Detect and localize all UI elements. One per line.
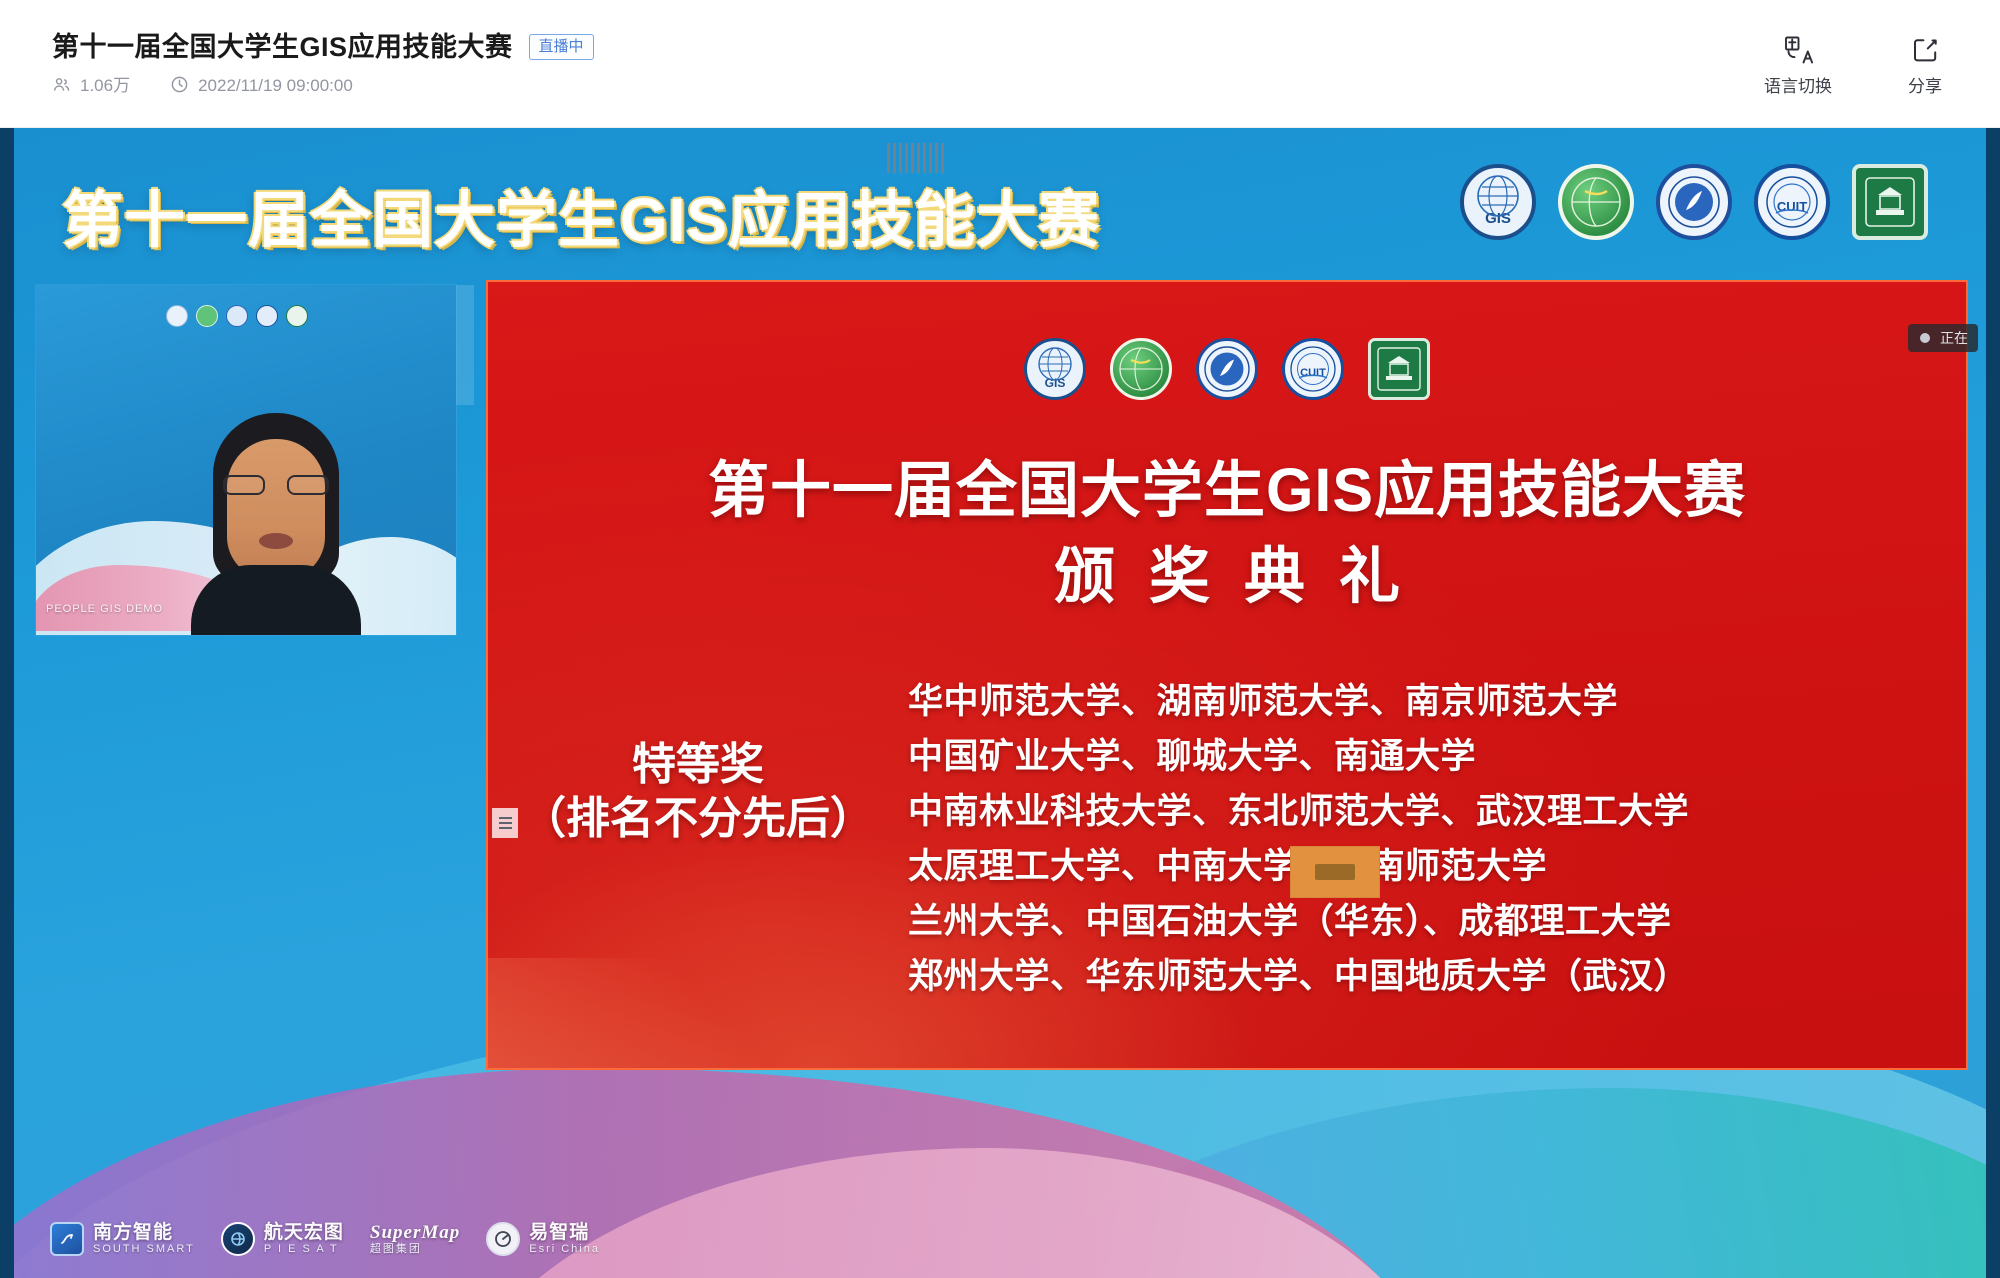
list-item: 中国矿业大学、聊城大学、南通大学 xyxy=(908,729,1942,784)
gis-association-emblem: GIS xyxy=(1024,338,1086,400)
university-blue-emblem xyxy=(1196,338,1258,400)
glasses-icon xyxy=(223,475,329,495)
viewers-icon xyxy=(52,75,71,94)
sponsor-name-cn: 航天宏图 xyxy=(264,1223,344,1242)
share-button[interactable]: 分享 xyxy=(1908,33,1942,95)
recording-indicator[interactable]: 正在 xyxy=(1908,324,1978,352)
stream-header: 第十一届全国大学生GIS应用技能大赛 直播中 1.06万 xyxy=(0,0,2000,128)
green-globe-emblem xyxy=(1558,164,1634,240)
viewer-count: 1.06万 xyxy=(52,75,130,94)
esrichina-logo-icon xyxy=(486,1222,520,1256)
award-winner-list: 华中师范大学、湖南师范大学、南京师范大学 中国矿业大学、聊城大学、南通大学 中南… xyxy=(908,674,1968,1004)
webcam-globe-icon xyxy=(196,305,218,327)
presenter-name-placeholder xyxy=(1315,864,1355,880)
speaker-shoulders xyxy=(191,565,361,635)
njnu-green-emblem xyxy=(1368,338,1430,400)
award-block: 特等奖 （排名不分先后） 华中师范大学、湖南师范大学、南京师范大学 中国矿业大学… xyxy=(488,674,1968,1004)
stage-emblem-row: GIS xyxy=(1460,164,1928,240)
webcam-cuit-icon xyxy=(256,305,278,327)
slide-emblem-row: GIS xyxy=(1024,338,1430,400)
stream-time-text: 2022/11/19 09:00:00 xyxy=(198,77,353,94)
viewer-count-text: 1.06万 xyxy=(80,77,130,94)
award-category-note: （排名不分先后） xyxy=(488,791,908,846)
share-label: 分享 xyxy=(1908,78,1942,95)
secondary-pane-edge xyxy=(456,285,474,405)
sponsor-piesat: 航天宏图 P I E S A T xyxy=(221,1222,344,1256)
record-dot-icon xyxy=(1918,331,1932,345)
sponsor-name-en: SuperMap xyxy=(370,1223,460,1242)
list-item: 兰州大学、中国石油大学（华东）、成都理工大学 xyxy=(908,894,1942,949)
list-item: 郑州大学、华东师范大学、中国地质大学（武汉） xyxy=(908,949,1942,1004)
video-player-stage[interactable]: 第十一届全国大学生GIS应用技能大赛 GIS xyxy=(0,128,2000,1278)
green-globe-emblem xyxy=(1110,338,1172,400)
language-switch-label: 语言切换 xyxy=(1764,78,1832,95)
sponsor-strip: 南方智能 SOUTH SMART 航天宏图 P I E S A T SuperM… xyxy=(50,1222,600,1256)
recording-indicator-label: 正在 xyxy=(1940,331,1968,345)
university-blue-emblem xyxy=(1656,164,1732,240)
webcam-univ-icon xyxy=(226,305,248,327)
video-frame: 第十一届全国大学生GIS应用技能大赛 GIS xyxy=(14,128,1986,1278)
webcam-gis-icon xyxy=(166,305,188,327)
stream-time: 2022/11/19 09:00:00 xyxy=(170,75,353,94)
header-left: 第十一届全国大学生GIS应用技能大赛 直播中 1.06万 xyxy=(52,34,594,94)
south-smart-logo-icon xyxy=(50,1222,84,1256)
sponsor-esrichina: 易智瑞 Esri China xyxy=(486,1222,600,1256)
award-category-main: 特等奖 xyxy=(488,740,908,791)
piesat-logo-icon xyxy=(221,1222,255,1256)
status-badge: 直播中 xyxy=(529,34,594,60)
list-item: 华中师范大学、湖南师范大学、南京师范大学 xyxy=(908,674,1942,729)
webcam-corner-label: PEOPLE GIS DEMO xyxy=(46,603,163,615)
webcam-njnu-icon xyxy=(286,305,308,327)
page-title: 第十一届全国大学生GIS应用技能大赛 xyxy=(52,34,513,61)
sponsor-name-cn: 易智瑞 xyxy=(529,1223,600,1242)
language-switch-button[interactable]: 语言切换 xyxy=(1764,33,1832,95)
shared-slide[interactable]: GIS xyxy=(486,280,1968,1070)
stream-meta: 1.06万 2022/11/19 09:00:00 xyxy=(52,75,594,94)
slide-title: 第十一届全国大学生GIS应用技能大赛 xyxy=(488,440,1966,529)
list-item: 中南林业科技大学、东北师范大学、武汉理工大学 xyxy=(908,784,1942,839)
sponsor-supermap: SuperMap 超图集团 xyxy=(370,1223,460,1255)
sponsor-name-cn: 超图集团 xyxy=(370,1244,460,1255)
list-item: 太原理工大学、中南大学、华南师范大学 xyxy=(908,839,1942,894)
cuit-emblem: CUIT xyxy=(1754,164,1830,240)
presenter-name-chip xyxy=(1290,846,1380,898)
cuit-emblem: CUIT xyxy=(1282,338,1344,400)
sponsor-name-en: Esri China xyxy=(529,1244,600,1255)
sponsor-name-cn: 南方智能 xyxy=(93,1223,195,1242)
slide-thumbnail-toggle[interactable] xyxy=(492,808,518,838)
sponsor-name-en: P I E S A T xyxy=(264,1244,344,1255)
stage-banner-title: 第十一届全国大学生GIS应用技能大赛 xyxy=(62,170,1100,259)
sponsor-name-en: SOUTH SMART xyxy=(93,1244,195,1255)
share-icon xyxy=(1910,33,1940,67)
gis-association-emblem: GIS xyxy=(1460,164,1536,240)
award-category-label: 特等奖 （排名不分先后） xyxy=(488,674,908,846)
speaker-face xyxy=(227,439,325,579)
speaker-webcam[interactable]: PEOPLE GIS DEMO xyxy=(36,285,456,635)
webcam-logo-row xyxy=(166,305,308,327)
translate-icon xyxy=(1782,33,1814,67)
clock-icon xyxy=(170,75,189,94)
speaker-mouth xyxy=(259,533,293,549)
speaker-avatar xyxy=(191,385,361,635)
header-actions: 语言切换 分享 xyxy=(1764,33,1964,95)
title-row: 第十一届全国大学生GIS应用技能大赛 直播中 xyxy=(52,34,594,61)
njnu-green-emblem xyxy=(1852,164,1928,240)
slide-subtitle: 颁奖典礼 xyxy=(488,526,1966,615)
watermark-mark xyxy=(887,143,945,173)
sponsor-south-smart: 南方智能 SOUTH SMART xyxy=(50,1222,195,1256)
